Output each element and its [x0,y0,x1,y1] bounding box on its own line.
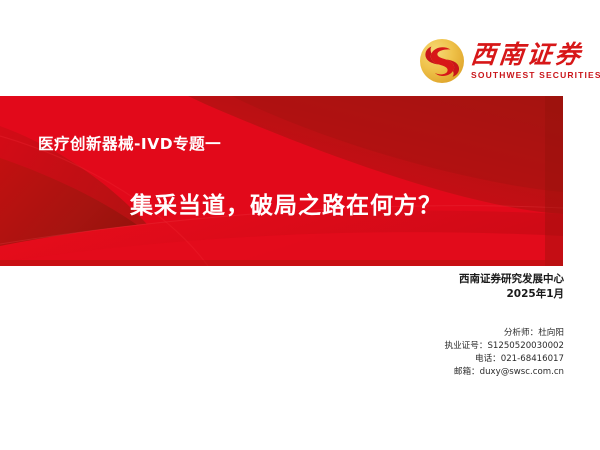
analyst-license-number: 执业证号：S1250520030002 [444,340,564,353]
analyst-email: 邮箱：duxy@swsc.com.cn [444,366,564,379]
organization-block: 西南证券研究发展中心 2025年1月 [459,272,564,302]
report-date: 2025年1月 [459,287,564,302]
logo-chinese-name: 西南证券 [470,42,600,67]
banner-text-group: 医疗创新器械-IVD专题一 集采当道，破局之路在何方？ [0,96,563,266]
company-logo: 西南证券 SOUTHWEST SECURITIES [420,33,585,88]
logo-english-name: SOUTHWEST SECURITIES [471,71,600,80]
report-subtitle: 医疗创新器械-IVD专题一 [38,132,221,154]
logo-swirl-icon [420,39,464,83]
logo-wordmark: 西南证券 SOUTHWEST SECURITIES [471,42,600,80]
southwest-securities-emblem-icon [420,39,464,83]
presentation-cover-slide: 西南证券 SOUTHWEST SECURITIES [0,0,600,450]
analyst-info-block: 分析师：杜向阳 执业证号：S1250520030002 电话：021-68416… [444,327,564,379]
analyst-phone: 电话：021-68416017 [444,353,564,366]
report-main-title: 集采当道，破局之路在何方？ [130,186,442,220]
research-center-name: 西南证券研究发展中心 [459,272,564,287]
title-banner: 医疗创新器械-IVD专题一 集采当道，破局之路在何方？ [0,96,563,266]
analyst-name: 分析师：杜向阳 [444,327,564,340]
